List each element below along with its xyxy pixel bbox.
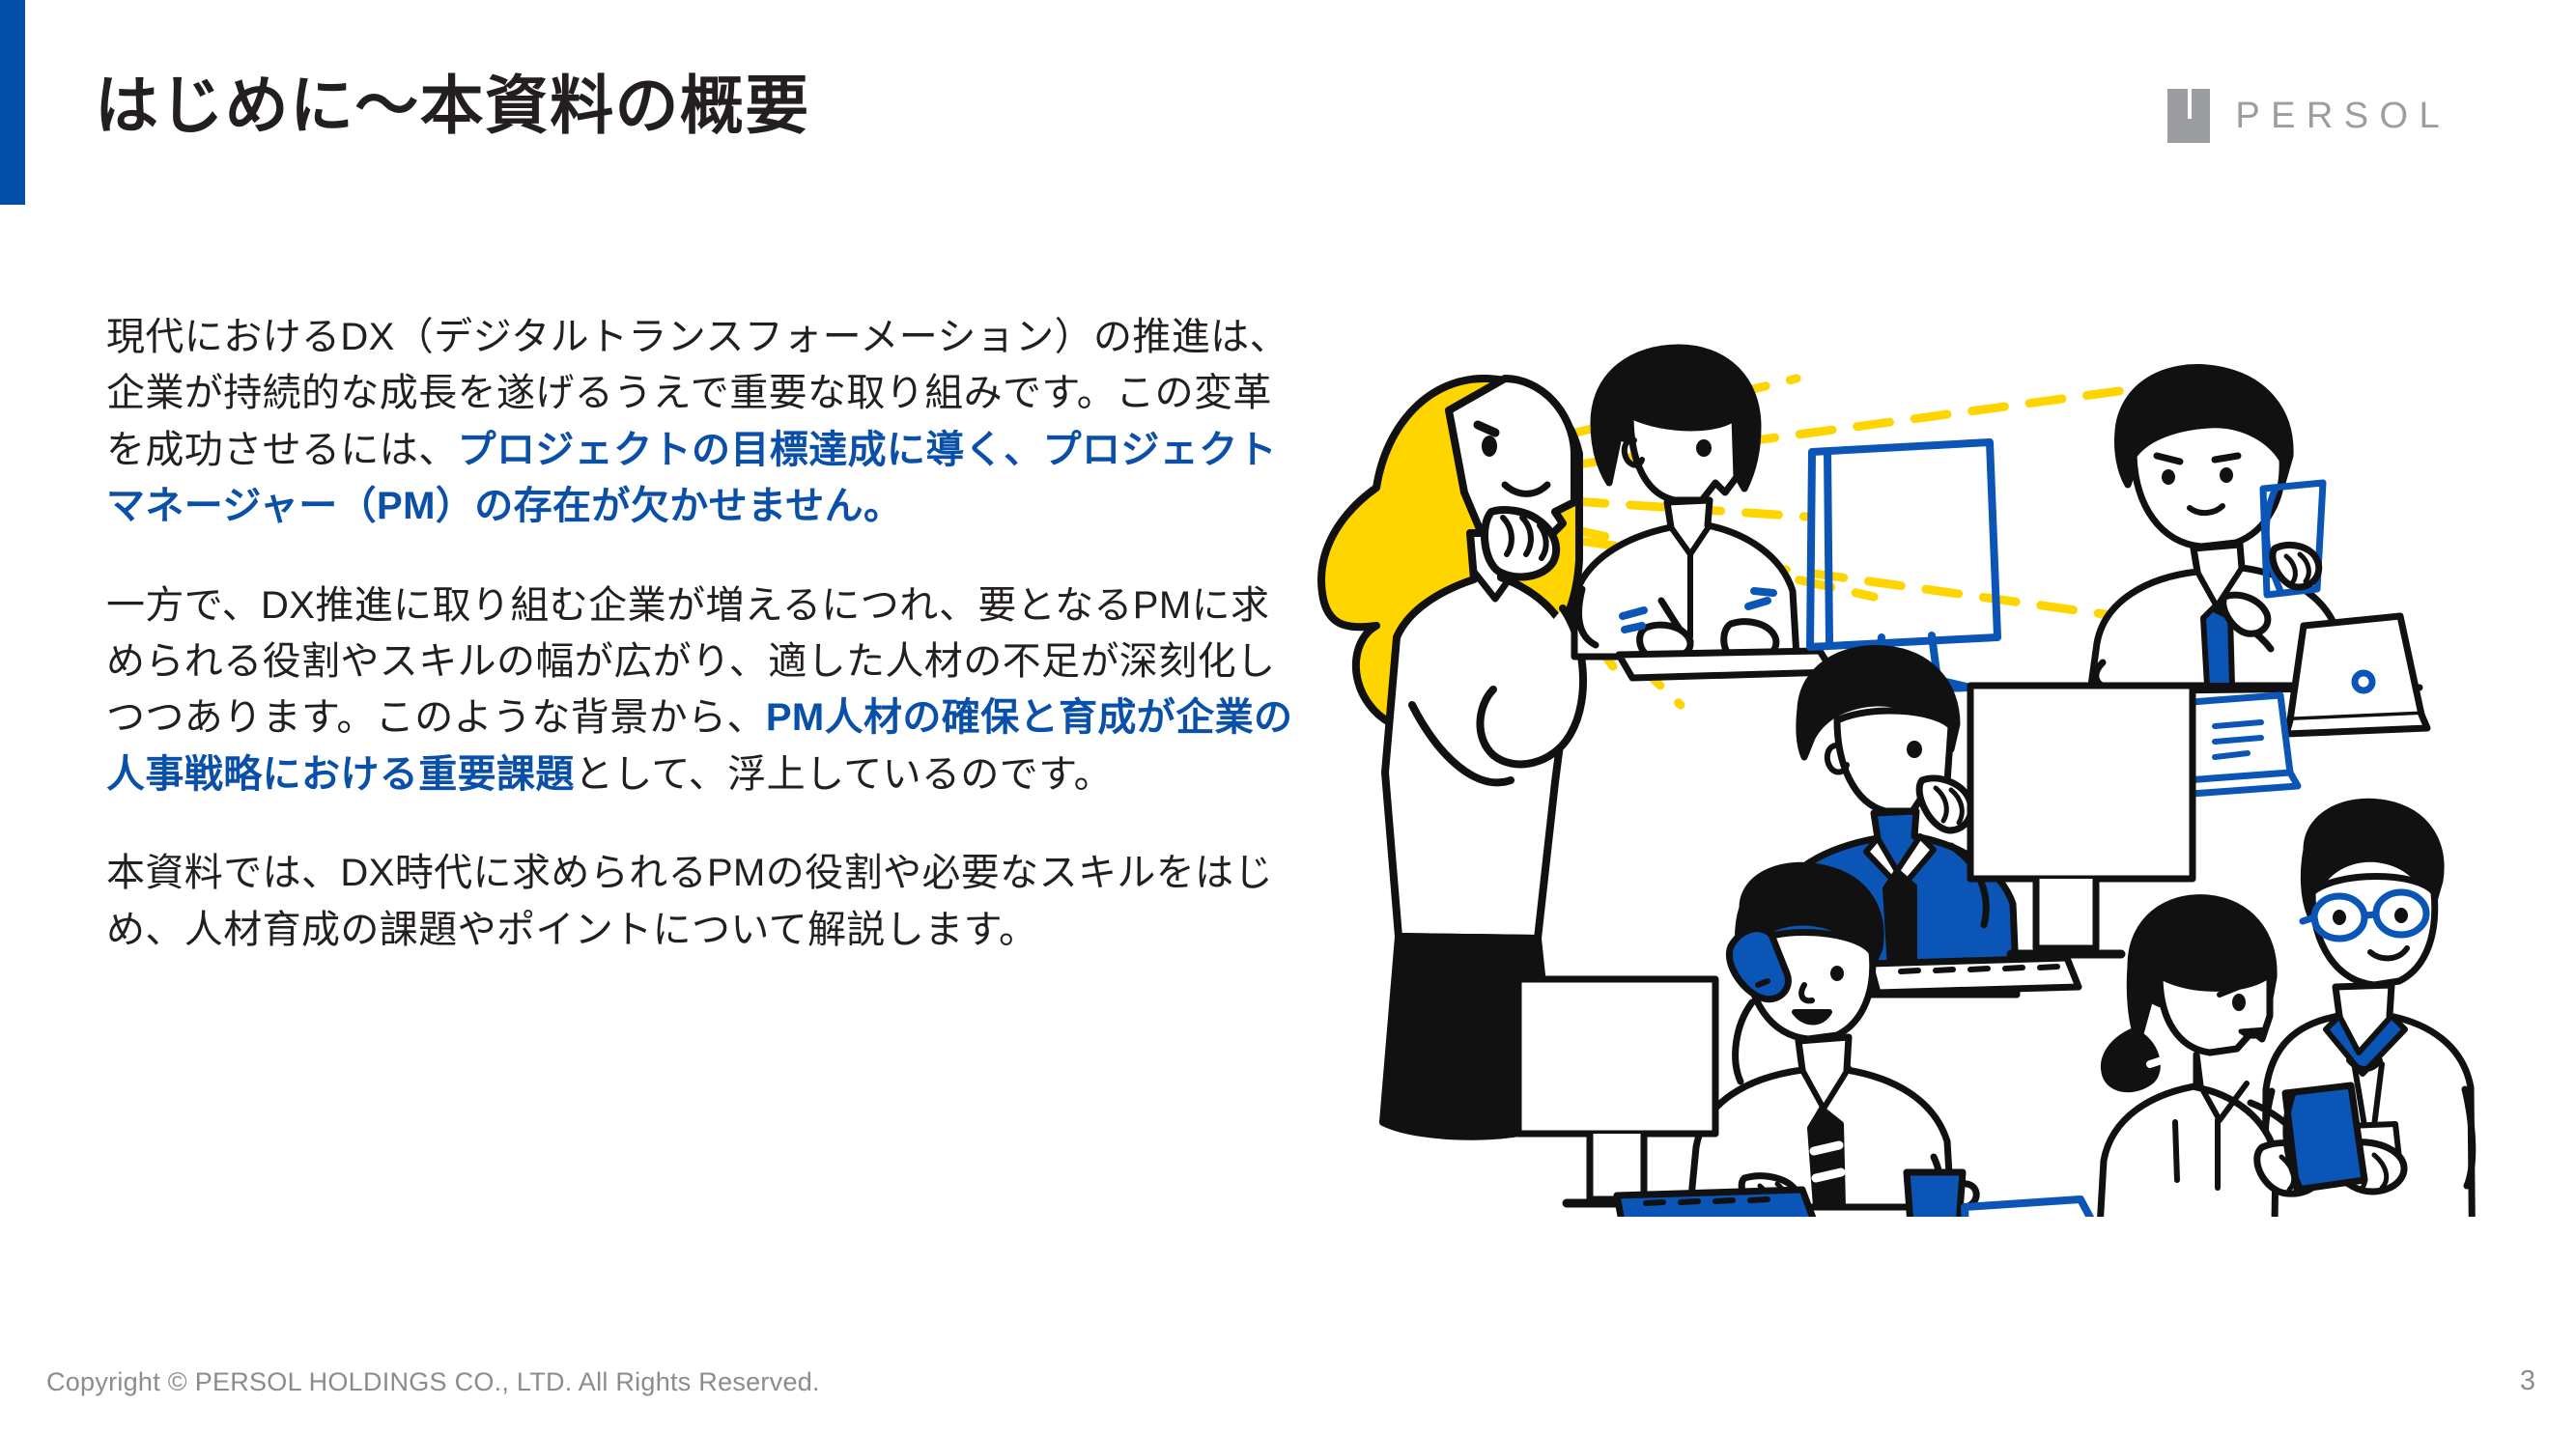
footer-copyright: Copyright © PERSOL HOLDINGS CO., LTD. Al… — [46, 1367, 820, 1397]
page-number: 3 — [2520, 1365, 2535, 1397]
illustration — [1294, 319, 2540, 1217]
paragraph-3-text: 本資料では、DX時代に求められるPMの役割や必要なスキルをはじめ、人材育成の課題… — [106, 852, 1273, 950]
persol-logo-mark-icon — [2167, 89, 2210, 143]
paragraph-1: 現代におけるDX（デジタルトランスフォーメーション）の推進は、企業が持続的な成長… — [106, 309, 1294, 535]
page-title: はじめに～本資料の概要 — [95, 54, 810, 147]
paragraph-3: 本資料では、DX時代に求められるPMの役割や必要なスキルをはじめ、人材育成の課題… — [106, 845, 1294, 958]
title-accent-bar — [0, 0, 25, 205]
slide: はじめに～本資料の概要 PERSOL 現代におけるDX（デジタルトランスフォーメ… — [0, 0, 2576, 1434]
persol-logo: PERSOL — [2167, 89, 2450, 143]
paragraph-2-tail: として、浮上しているのです。 — [575, 753, 1113, 796]
persol-wordmark: PERSOL — [2235, 96, 2450, 137]
woman-at-monitor-figure — [1574, 348, 1997, 691]
body-copy: 現代におけるDX（デジタルトランスフォーメーション）の推進は、企業が持続的な成長… — [106, 309, 1294, 958]
paragraph-2: 一方で、DX推進に取り組む企業が増えるにつれ、要となるPMに求められる役割やスキ… — [106, 577, 1294, 803]
